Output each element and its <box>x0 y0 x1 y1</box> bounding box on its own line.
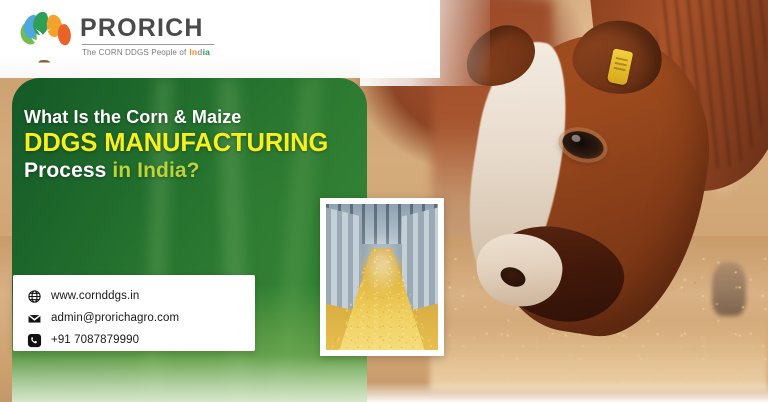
contact-card: www.cornddgs.in admin@prorichagro.com +9… <box>13 275 255 351</box>
headline-block: What Is the Corn & Maize DDGS MANUFACTUR… <box>24 108 354 182</box>
headline-line-3-white: Process <box>24 159 106 182</box>
headline-line-1: What Is the Corn & Maize <box>24 108 354 127</box>
envelope-icon <box>27 311 42 326</box>
brand-tagline-prefix: The CORN DDGS People of <box>82 48 186 57</box>
corn-conveyor-inset-photo <box>320 198 444 356</box>
brand-tagline-country: India <box>189 47 210 57</box>
banner-canvas: What Is the Corn & Maize DDGS MANUFACTUR… <box>0 0 768 402</box>
cow-photo <box>470 0 768 342</box>
email-value: admin@prorichagro.com <box>51 312 179 324</box>
contact-row-email[interactable]: admin@prorichagro.com <box>27 308 255 328</box>
brand-tagline: The CORN DDGS People of India <box>80 47 214 57</box>
headline-line-2: DDGS MANUFACTURING <box>24 130 354 157</box>
globe-icon <box>27 289 42 304</box>
tree-circle-logo-icon <box>14 8 72 64</box>
corn-photo-highlight <box>360 234 405 294</box>
bottom-haze <box>367 382 768 402</box>
panel-bottom-haze <box>12 356 367 402</box>
contact-row-website[interactable]: www.cornddgs.in <box>27 286 255 306</box>
brand-name: PRORICH <box>80 16 214 41</box>
website-value: www.cornddgs.in <box>51 290 139 302</box>
corn-photo-inner <box>326 204 438 350</box>
headline-line-3-lime: in India? <box>112 159 199 182</box>
headline-line-3: Process in India? <box>24 160 354 182</box>
brand-divider <box>82 44 214 45</box>
brand-logo[interactable]: PRORICH The CORN DDGS People of India <box>14 8 214 64</box>
phone-icon <box>27 333 42 348</box>
contact-row-phone[interactable]: +91 7087879990 <box>27 330 255 350</box>
brand-lockup: PRORICH The CORN DDGS People of India <box>80 16 214 57</box>
header-fade <box>360 0 490 86</box>
phone-value: +91 7087879990 <box>51 334 139 346</box>
